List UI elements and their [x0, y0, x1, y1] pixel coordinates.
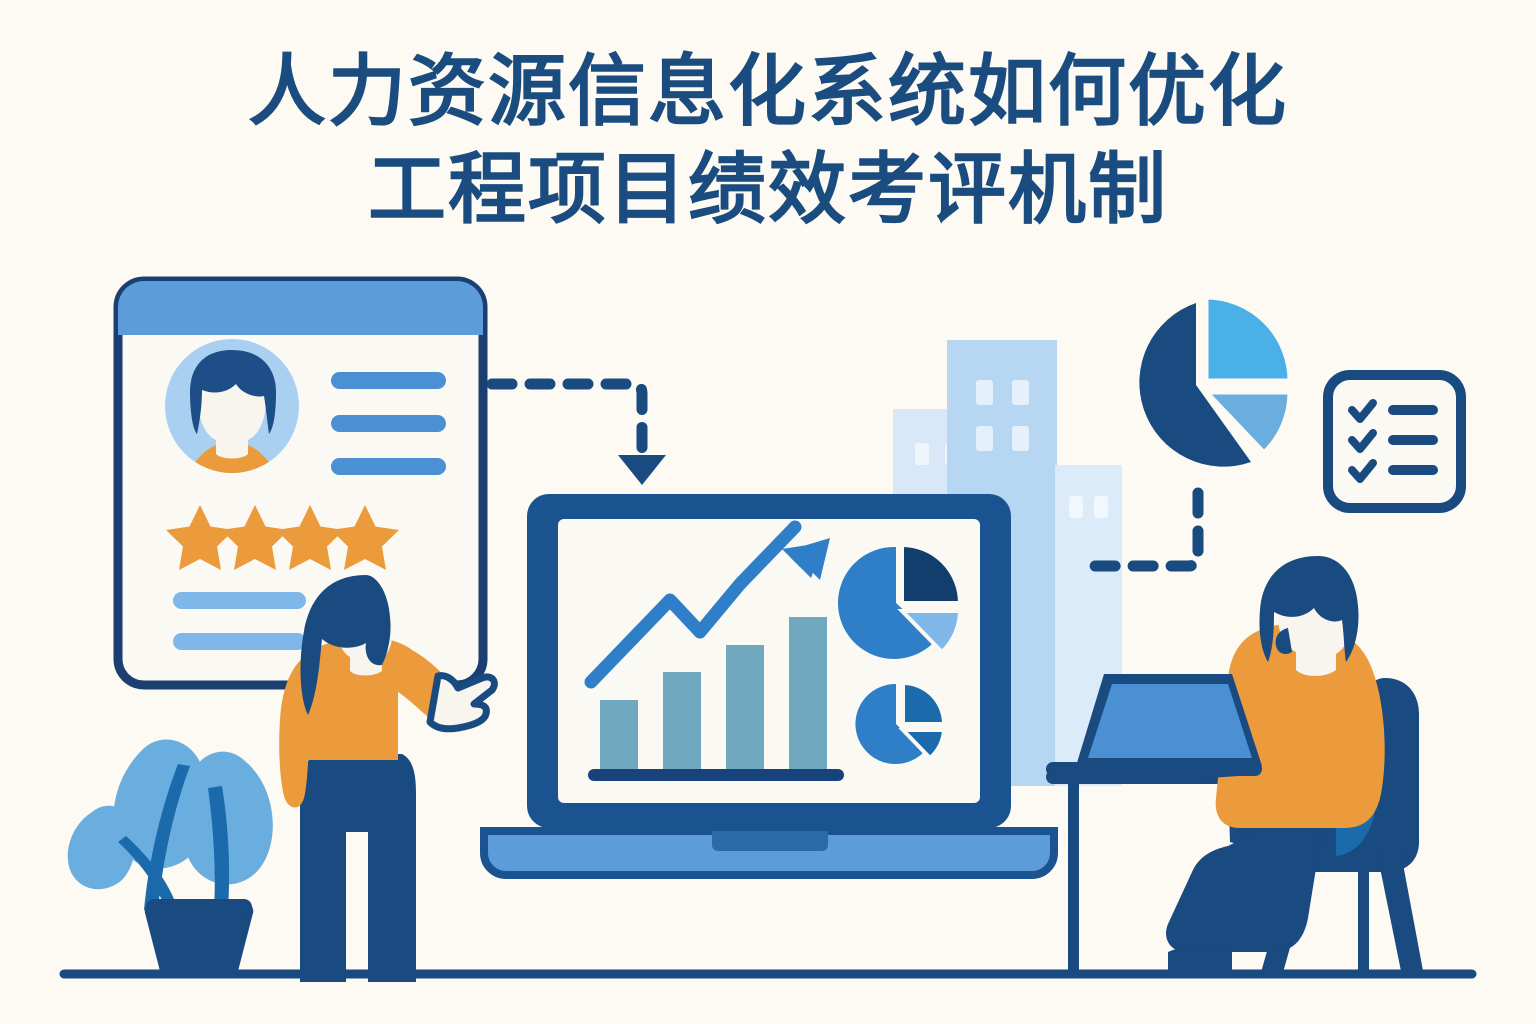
employee-profile-card[interactable]: [118, 281, 483, 685]
illustration-artwork: [0, 0, 1536, 1024]
standalone-pie-chart: [1139, 297, 1290, 467]
chart-axis: [588, 769, 844, 781]
illustration-canvas: 人力资源信息化系统如何优化 工程项目绩效考评机制: [0, 0, 1536, 1024]
potted-plant: [68, 740, 273, 975]
profile-detail-lines: [331, 372, 446, 475]
presentation-laptop[interactable]: [484, 494, 1054, 875]
flow-arrow-card-to-laptop: [492, 384, 666, 485]
evaluation-checklist[interactable]: [1328, 375, 1461, 508]
laptop-base: [484, 831, 1054, 875]
